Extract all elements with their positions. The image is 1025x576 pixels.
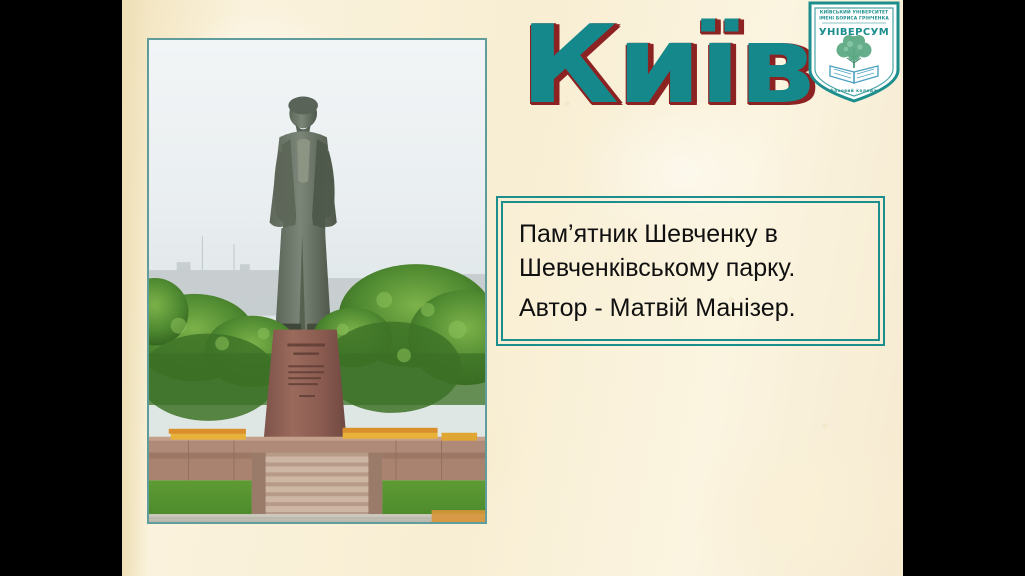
caption-line-1: Пам’ятник Шевченку в: [519, 217, 864, 251]
slide-canvas: Київ КИЇВСЬКИЙ УНІВЕРСИТЕТ ІМЕНІ БОРИСА …: [122, 0, 903, 576]
shevchenko-monument-photo: [147, 38, 487, 524]
letterbox-bar-left: [0, 0, 122, 576]
universum-logo: КИЇВСЬКИЙ УНІВЕРСИТЕТ ІМЕНІ БОРИСА ГРІНЧ…: [806, 0, 902, 104]
stairs: [252, 453, 382, 522]
caption-inner-frame: Пам’ятник Шевченку в Шевченківському пар…: [501, 201, 880, 341]
crest-subtitle: фаховий коледж: [830, 88, 879, 93]
crest-artwork: КИЇВСЬКИЙ УНІВЕРСИТЕТ ІМЕНІ БОРИСА ГРІНЧ…: [806, 0, 902, 104]
caption-line-2: Шевченківському парку.: [519, 251, 864, 285]
crest-university-line-2: ІМЕНІ БОРИСА ГРІНЧЕНКА: [819, 16, 889, 22]
caption-box: Пам’ятник Шевченку в Шевченківському пар…: [496, 196, 885, 346]
slide-root: Київ КИЇВСЬКИЙ УНІВЕРСИТЕТ ІМЕНІ БОРИСА …: [0, 0, 1025, 576]
letterbox-bar-right: [903, 0, 1025, 576]
pedestal: [264, 330, 347, 441]
photo-artwork: [149, 40, 485, 522]
caption-line-3: Автор - Матвій Манізер.: [519, 291, 864, 325]
